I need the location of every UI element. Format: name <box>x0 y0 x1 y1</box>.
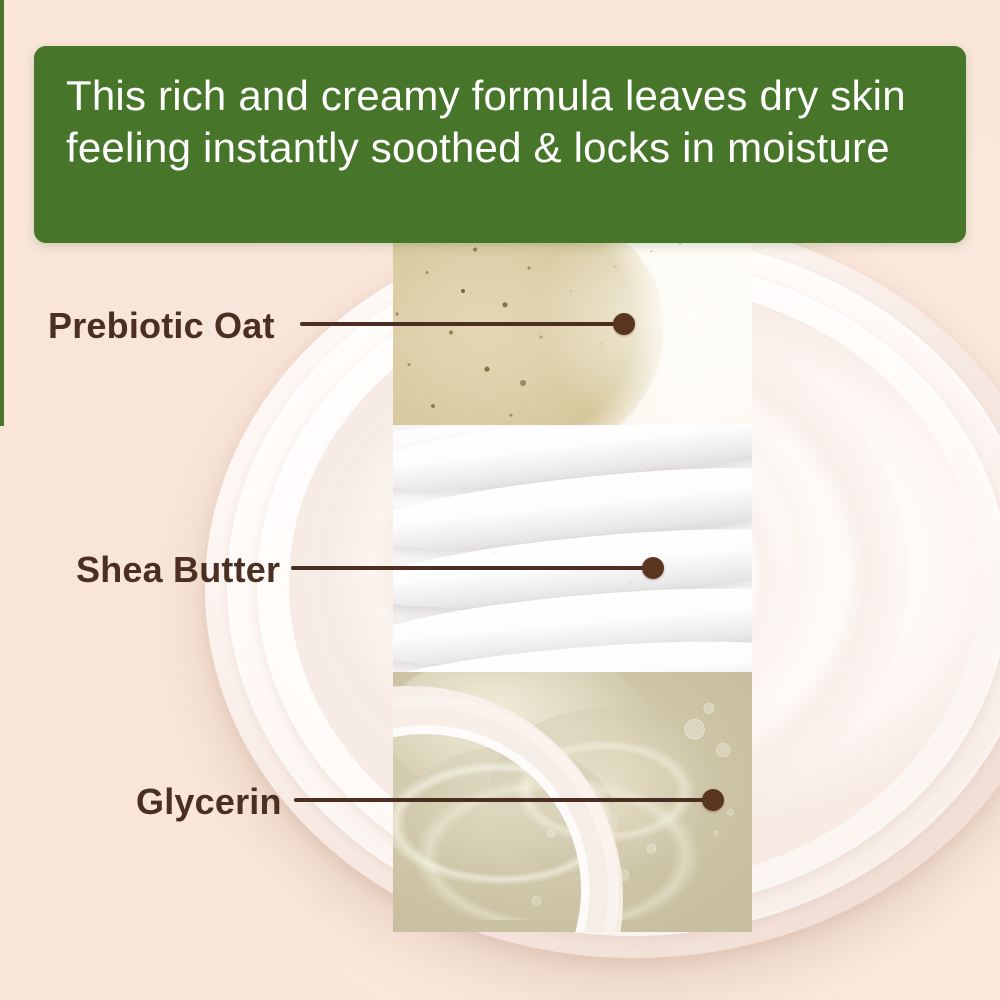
callout-label-glycerin: Glycerin <box>136 781 282 823</box>
callout-dot-shea-butter <box>642 557 664 579</box>
oat-powder-panel <box>393 232 752 425</box>
callout-dot-glycerin <box>702 789 724 811</box>
product-ingredient-infographic: This rich and creamy formula leaves dry … <box>0 0 1000 1000</box>
callout-dot-prebiotic-oat <box>613 313 635 335</box>
oat-panel-sheen <box>532 232 752 425</box>
callout-label-prebiotic-oat: Prebiotic Oat <box>48 305 275 347</box>
callout-leader-line-shea-butter <box>291 566 653 570</box>
callout-leader-line-glycerin <box>294 798 713 802</box>
headline-banner: This rich and creamy formula leaves dry … <box>34 46 966 243</box>
shea-butter-panel <box>393 425 752 672</box>
ingredient-panel-stack <box>393 232 752 932</box>
shea-surface-dimples <box>393 425 752 672</box>
glycerin-gel-panel <box>393 672 752 932</box>
headline-text: This rich and creamy formula leaves dry … <box>66 70 932 174</box>
callout-leader-line-prebiotic-oat <box>300 322 624 326</box>
callout-label-shea-butter: Shea Butter <box>76 549 280 591</box>
left-edge-accent-rule <box>0 0 4 426</box>
